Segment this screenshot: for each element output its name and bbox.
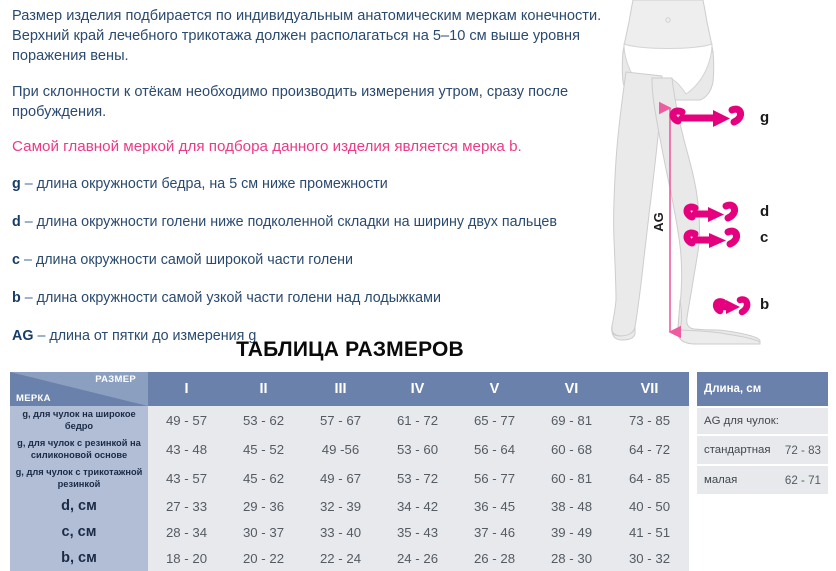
measurement-arrowhead-c (709, 233, 726, 248)
cell-g-silicone-band-5: 56 - 64 (456, 435, 533, 464)
cell-d-5: 36 - 45 (456, 493, 533, 519)
cell-c-1: 28 - 34 (148, 519, 225, 545)
definition-key-c: c (12, 252, 20, 268)
length-panel: Длина, см AG для чулок: стандартная 72 -… (697, 372, 828, 496)
definition-item-d: d – длина окружности голени ниже подколе… (12, 213, 612, 232)
size-header-1: I (148, 372, 225, 406)
length-panel-subtitle-row: AG для чулок: (697, 406, 828, 436)
table-row: g, для чулок с трикотажной резинкой 43 -… (10, 464, 689, 493)
size-header-7: VII (610, 372, 689, 406)
length-row-value-standard: 72 - 83 (785, 444, 821, 457)
table-row: g, для чулок с резинкой на силиконовой о… (10, 435, 689, 464)
table-row: b, см 18 - 20 20 - 22 22 - 24 24 - 26 26… (10, 545, 689, 571)
cell-g-silicone-band-4: 53 - 60 (379, 435, 456, 464)
corner-column-axis-label: РАЗМЕР (95, 374, 136, 385)
cell-g-knit-band-3: 49 - 67 (302, 464, 379, 493)
size-header-2: II (225, 372, 302, 406)
definition-dash-g: – (25, 176, 33, 192)
row-label-g-wide-thigh: g, для чулок на широкое бедро (10, 406, 148, 435)
size-header-5: V (456, 372, 533, 406)
table-row: g, для чулок на широкое бедро 49 - 57 53… (10, 406, 689, 435)
cell-c-7: 41 - 51 (610, 519, 689, 545)
cell-d-4: 34 - 42 (379, 493, 456, 519)
leg-measurement-diagram: AG g d c (600, 0, 836, 345)
row-label-g-knit-band: g, для чулок с трикотажной резинкой (10, 464, 148, 493)
corner-axis-cell: РАЗМЕР МЕРКА (10, 372, 148, 406)
definition-key-d: d (12, 214, 21, 230)
cell-g-knit-band-5: 56 - 77 (456, 464, 533, 493)
cell-b-1: 18 - 20 (148, 545, 225, 571)
length-panel-subtitle: AG для чулок: (704, 415, 821, 427)
cell-g-knit-band-4: 53 - 72 (379, 464, 456, 493)
length-row-value-small: 62 - 71 (785, 474, 821, 487)
cell-g-silicone-band-3: 49 -56 (302, 435, 379, 464)
instructions-text-column: Размер изделия подбирается по индивидуал… (12, 6, 612, 365)
size-table-title: ТАБЛИЦА РАЗМЕРОВ (0, 338, 700, 362)
definition-text-b: длина окружности самой узкой части голен… (37, 290, 441, 306)
table-row: c, см 28 - 34 30 - 37 33 - 40 35 - 43 37… (10, 519, 689, 545)
cell-c-4: 35 - 43 (379, 519, 456, 545)
length-panel-header: Длина, см (697, 372, 828, 406)
instructions-and-figure-area: Размер изделия подбирается по индивидуал… (0, 0, 836, 340)
cell-b-4: 24 - 26 (379, 545, 456, 571)
cell-c-2: 30 - 37 (225, 519, 302, 545)
cell-c-3: 33 - 40 (302, 519, 379, 545)
definition-item-c: c – длина окружности самой широкой части… (12, 251, 612, 270)
length-panel-row-small: малая 62 - 71 (697, 466, 828, 496)
cell-g-knit-band-7: 64 - 85 (610, 464, 689, 493)
cell-g-wide-thigh-1: 49 - 57 (148, 406, 225, 435)
measurement-label-b: b (760, 296, 769, 313)
cell-g-wide-thigh-6: 69 - 81 (533, 406, 610, 435)
cell-g-knit-band-6: 60 - 81 (533, 464, 610, 493)
cell-g-silicone-band-2: 45 - 52 (225, 435, 302, 464)
definition-item-g: g – длина окружности бедра, на 5 см ниже… (12, 175, 612, 194)
cell-g-knit-band-1: 43 - 57 (148, 464, 225, 493)
cell-d-6: 38 - 48 (533, 493, 610, 519)
cell-g-wide-thigh-3: 57 - 67 (302, 406, 379, 435)
cell-g-silicone-band-7: 64 - 72 (610, 435, 689, 464)
size-header-4: IV (379, 372, 456, 406)
definition-dash-b: – (25, 290, 33, 306)
intro-paragraph-1: Размер изделия подбирается по индивидуал… (12, 6, 612, 66)
size-header-6: VI (533, 372, 610, 406)
cell-d-2: 29 - 36 (225, 493, 302, 519)
definition-item-b: b – длина окружности самой узкой части г… (12, 289, 612, 308)
cell-g-wide-thigh-2: 53 - 62 (225, 406, 302, 435)
highlight-note: Самой главной меркой для подбора данного… (12, 136, 612, 157)
cell-g-wide-thigh-7: 73 - 85 (610, 406, 689, 435)
measurement-label-d: d (760, 203, 769, 220)
measurement-arrowhead-d (708, 207, 724, 222)
definition-text-d: длина окружности голени ниже подколенной… (37, 214, 557, 230)
cell-c-6: 39 - 49 (533, 519, 610, 545)
definition-key-g: g (12, 176, 21, 192)
length-row-name-small: малая (704, 474, 785, 486)
row-label-c: c, см (10, 519, 148, 545)
row-label-d: d, см (10, 493, 148, 519)
size-table-header-row: РАЗМЕР МЕРКА I II III IV V VI VII (10, 372, 689, 406)
length-panel-row-standard: стандартная 72 - 83 (697, 436, 828, 466)
ag-dimension-label: AG (651, 212, 666, 232)
definition-dash-c: – (24, 252, 32, 268)
table-row: d, см 27 - 33 29 - 36 32 - 39 34 - 42 36… (10, 493, 689, 519)
measurement-label-c: c (760, 229, 768, 246)
definition-text-c: длина окружности самой широкой части гол… (36, 252, 353, 268)
definition-key-b: b (12, 290, 21, 306)
body-silhouette (612, 0, 760, 344)
row-label-g-silicone-band: g, для чулок с резинкой на силиконовой о… (10, 435, 148, 464)
measurement-definitions-list: g – длина окружности бедра, на 5 см ниже… (12, 175, 612, 346)
cell-g-wide-thigh-4: 61 - 72 (379, 406, 456, 435)
cell-g-wide-thigh-5: 65 - 77 (456, 406, 533, 435)
cell-g-silicone-band-6: 60 - 68 (533, 435, 610, 464)
cell-b-2: 20 - 22 (225, 545, 302, 571)
cell-d-7: 40 - 50 (610, 493, 689, 519)
length-row-name-standard: стандартная (704, 444, 785, 456)
definition-dash-d: – (25, 214, 33, 230)
cell-c-5: 37 - 46 (456, 519, 533, 545)
row-label-b: b, см (10, 545, 148, 571)
definition-text-g: длина окружности бедра, на 5 см ниже про… (37, 176, 388, 192)
corner-row-axis-label: МЕРКА (16, 393, 51, 404)
cell-b-5: 26 - 28 (456, 545, 533, 571)
measurement-arrow-g (673, 109, 741, 122)
cell-b-6: 28 - 30 (533, 545, 610, 571)
cell-d-3: 32 - 39 (302, 493, 379, 519)
size-header-3: III (302, 372, 379, 406)
cell-b-7: 30 - 32 (610, 545, 689, 571)
cell-b-3: 22 - 24 (302, 545, 379, 571)
measurement-arrowhead-g (713, 110, 730, 127)
cell-g-knit-band-2: 45 - 62 (225, 464, 302, 493)
cell-d-1: 27 - 33 (148, 493, 225, 519)
intro-paragraph-2: При склонности к отёкам необходимо произ… (12, 82, 612, 122)
measurement-label-g: g (760, 109, 769, 126)
cell-g-silicone-band-1: 43 - 48 (148, 435, 225, 464)
size-table: РАЗМЕР МЕРКА I II III IV V VI VII g, для… (10, 372, 689, 571)
